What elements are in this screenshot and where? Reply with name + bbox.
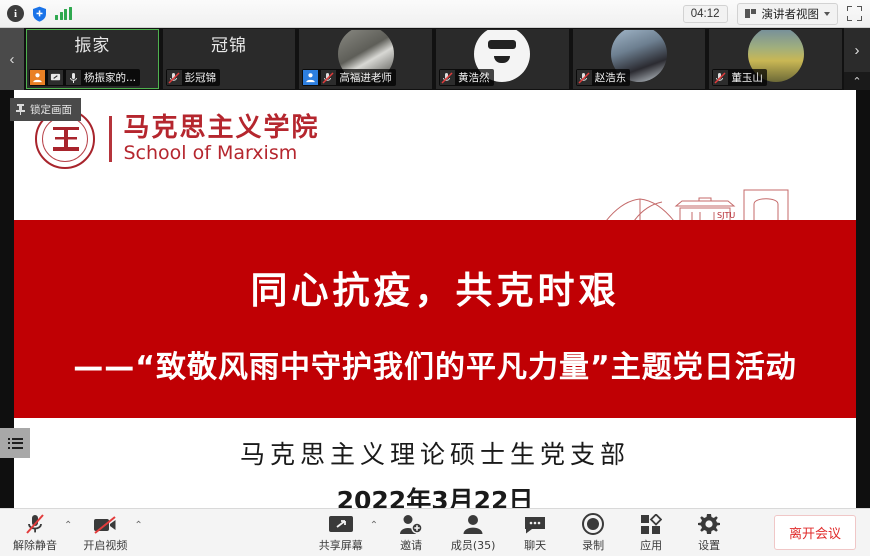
participant-label: 董玉山 (712, 69, 767, 86)
skyline-decoration: SJTU (14, 180, 856, 222)
leave-meeting-button[interactable]: 离开会议 (774, 515, 856, 550)
microphone-muted-icon (577, 70, 592, 85)
apps-label: 应用 (640, 537, 662, 553)
slide-subtitle: ——“致敬风雨中守护我们的平凡力量”主题党日活动 (14, 342, 856, 386)
screen-share-icon (48, 70, 63, 85)
slide-title: 同心抗疫，共克时艰 (14, 260, 856, 314)
microphone-muted-icon (440, 70, 455, 85)
gear-icon (698, 513, 720, 535)
share-screen-label: 共享屏幕 (319, 537, 363, 553)
filmstrip-collapse-button[interactable]: ⌃ (844, 72, 870, 90)
microphone-muted-icon (24, 513, 46, 535)
participant-tile[interactable]: 冠锦 彭冠锦 (163, 29, 296, 89)
slide-footer: 马克思主义理论硕士生党支部 2022年3月22日 (14, 435, 856, 508)
settings-label: 设置 (698, 537, 720, 553)
filmstrip-right-controls: › ⌃ (844, 28, 870, 90)
participant-tile[interactable]: 董玉山 (709, 29, 842, 89)
campus-skyline-icon: SJTU (604, 182, 804, 222)
invite-button[interactable]: 邀请 (382, 510, 440, 556)
top-bar-controls: 04:12 演讲者视图 (683, 3, 870, 25)
apps-button[interactable]: 应用 (622, 510, 680, 556)
meeting-toolbar: 解除静音 ⌃ 开启视频 ⌃ 共享屏幕 ⌃ (0, 508, 870, 556)
fullscreen-icon[interactable] (847, 6, 862, 21)
lock-screen-label: 锁定画面 (30, 102, 72, 117)
participant-label: 黄浩然 (439, 69, 494, 86)
participant-display-name: 振家 (27, 31, 158, 56)
unmute-button[interactable]: 解除静音 (6, 510, 64, 556)
invite-label: 邀请 (400, 537, 422, 553)
shared-screen-area: 锁定画面 马克思主义学院 School of Marxism (0, 90, 870, 508)
filmstrip-tiles: 振家 杨振家的... 冠锦 (24, 28, 844, 90)
participants-button[interactable]: 成员(35) (440, 510, 506, 556)
share-screen-button[interactable]: 共享屏幕 (312, 510, 370, 556)
pin-icon (16, 104, 25, 115)
start-video-label: 开启视频 (83, 537, 127, 553)
slide-title-band: 同心抗疫，共克时艰 ——“致敬风雨中守护我们的平凡力量”主题党日活动 (14, 220, 856, 418)
microphone-muted-icon (321, 70, 336, 85)
audio-options-chevron-icon[interactable]: ⌃ (64, 520, 76, 545)
record-icon (582, 513, 604, 535)
share-screen-icon (328, 513, 354, 535)
panel-list-icon[interactable] (0, 428, 30, 458)
meeting-timer: 04:12 (683, 5, 728, 23)
participant-name: 杨振家的... (84, 70, 136, 85)
info-icon[interactable]: i (7, 5, 24, 22)
participant-label: 高福进老师 (302, 69, 396, 86)
participant-tile[interactable]: 黄浩然 (436, 29, 569, 89)
video-options-chevron-icon[interactable]: ⌃ (134, 520, 146, 545)
chat-button[interactable]: 聊天 (506, 510, 564, 556)
meeting-top-bar: i 04:12 演讲者视图 (0, 0, 870, 28)
network-signal-icon[interactable] (55, 7, 72, 20)
filmstrip-next-button[interactable]: › (844, 28, 870, 72)
participant-name: 黄浩然 (458, 70, 490, 85)
presentation-slide: 马克思主义学院 School of Marxism (14, 90, 856, 508)
logo-cn: 马克思主义学院 (124, 114, 320, 143)
logo-text: 马克思主义学院 School of Marxism (124, 114, 320, 164)
participant-name: 高福进老师 (339, 70, 392, 85)
microphone-icon (66, 70, 81, 85)
participants-icon (462, 513, 484, 535)
record-label: 录制 (582, 537, 604, 553)
participant-name: 彭冠锦 (185, 70, 217, 85)
sjtu-mark: SJTU (717, 211, 735, 220)
participant-tile[interactable]: 高福进老师 (299, 29, 432, 89)
record-button[interactable]: 录制 (564, 510, 622, 556)
chevron-down-icon (824, 12, 830, 16)
participant-display-name: 冠锦 (164, 31, 295, 56)
filmstrip-prev-button[interactable]: ‹ (0, 28, 24, 90)
participant-tile[interactable]: 振家 杨振家的... (26, 29, 159, 89)
logo-en: School of Marxism (124, 143, 320, 164)
security-shield-icon[interactable] (31, 5, 48, 22)
view-mode-label: 演讲者视图 (762, 6, 820, 22)
toolbar-left-group: 解除静音 ⌃ 开启视频 ⌃ (0, 510, 147, 556)
participant-tile[interactable]: 赵浩东 (573, 29, 706, 89)
lock-screen-button[interactable]: 锁定画面 (10, 98, 81, 121)
video-on-icon (303, 70, 318, 85)
chat-label: 聊天 (524, 537, 546, 553)
participant-name: 董玉山 (731, 70, 763, 85)
participant-label: 赵浩东 (576, 69, 631, 86)
unmute-label: 解除静音 (13, 537, 57, 553)
participant-label: 彭冠锦 (166, 69, 221, 86)
share-options-chevron-icon[interactable]: ⌃ (370, 520, 382, 545)
toolbar-center-group: 共享屏幕 ⌃ 邀请 成员(35) 聊天 (312, 510, 738, 556)
chat-icon (523, 513, 547, 535)
video-off-icon (93, 513, 117, 535)
participants-label: 成员(35) (451, 537, 496, 553)
participant-name: 赵浩东 (595, 70, 627, 85)
logo-divider (109, 116, 112, 162)
host-icon (30, 70, 45, 85)
participant-label: 杨振家的... (29, 69, 140, 86)
start-video-button[interactable]: 开启视频 (76, 510, 134, 556)
zoom-meeting-window: i 04:12 演讲者视图 ‹ 振家 (0, 0, 870, 556)
microphone-muted-icon (167, 70, 182, 85)
speaker-view-icon (745, 8, 757, 19)
microphone-muted-icon (713, 70, 728, 85)
slide-date: 2022年3月22日 (14, 481, 856, 508)
view-mode-selector[interactable]: 演讲者视图 (737, 3, 839, 25)
slide-department: 马克思主义理论硕士生党支部 (14, 435, 856, 471)
top-bar-status-icons: i (0, 5, 72, 22)
participant-filmstrip: ‹ 振家 杨振家的... 冠锦 (0, 28, 870, 90)
invite-icon (399, 513, 423, 535)
settings-button[interactable]: 设置 (680, 510, 738, 556)
apps-icon (640, 513, 662, 535)
